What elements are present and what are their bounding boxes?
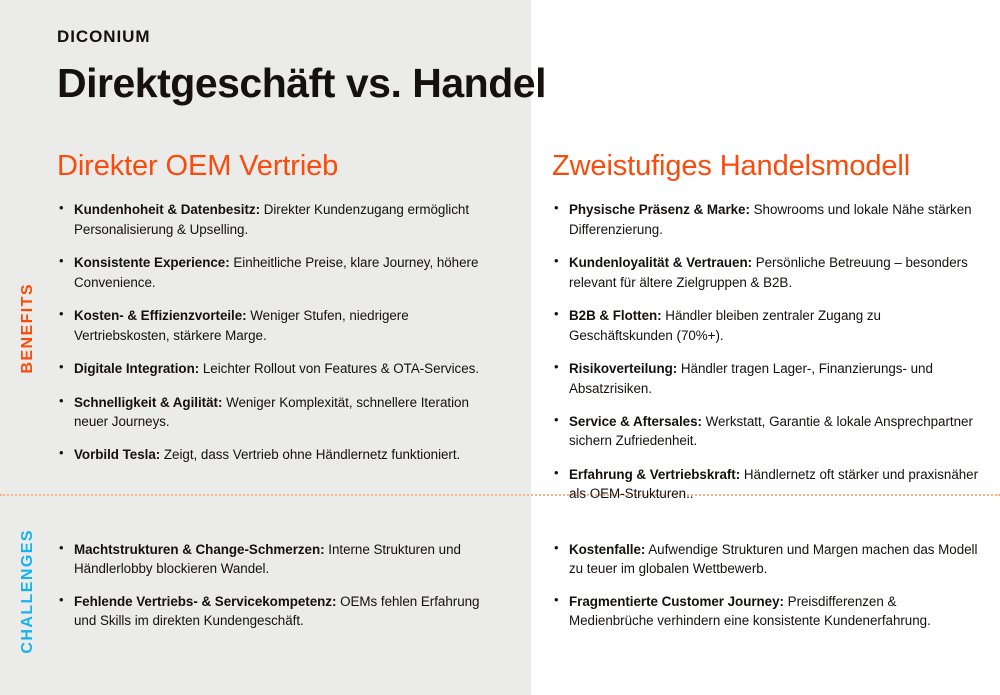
list-item-term: Service & Aftersales:	[569, 414, 702, 429]
list-item-term: Machtstrukturen & Change-Schmerzen:	[74, 542, 325, 557]
list-item-description: Leichter Rollout von Features & OTA-Serv…	[199, 361, 479, 376]
column-heading-direct-oem: Direkter OEM Vertrieb	[57, 150, 492, 182]
list-item-term: Schnelligkeit & Agilität:	[74, 395, 222, 410]
list-item: Digitale Integration: Leichter Rollout v…	[57, 359, 492, 378]
benefits-column-two-tier: Zweistufiges Handelsmodell Physische Prä…	[552, 150, 982, 504]
list-item: Risikoverteilung: Händler tragen Lager-,…	[552, 359, 982, 398]
benefits-list-direct-oem: Kundenhoheit & Datenbesitz: Direkter Kun…	[57, 200, 492, 464]
list-item: Service & Aftersales: Werkstatt, Garanti…	[552, 412, 982, 451]
list-item: Fehlende Vertriebs- & Servicekompetenz: …	[57, 592, 492, 631]
benefits-list-two-tier: Physische Präsenz & Marke: Showrooms und…	[552, 200, 982, 503]
list-item: Machtstrukturen & Change-Schmerzen: Inte…	[57, 540, 492, 579]
list-item-term: Konsistente Experience:	[74, 255, 230, 270]
challenges-column-two-tier: Kostenfalle: Aufwendige Strukturen und M…	[552, 540, 982, 644]
list-item-term: Fragmentierte Customer Journey:	[569, 594, 784, 609]
page-title: Direktgeschäft vs. Handel	[57, 62, 546, 105]
list-item-term: Kosten- & Effizienzvorteile:	[74, 308, 247, 323]
list-item-term: Vorbild Tesla:	[74, 447, 160, 462]
list-item: Physische Präsenz & Marke: Showrooms und…	[552, 200, 982, 239]
column-heading-two-tier: Zweistufiges Handelsmodell	[552, 150, 982, 182]
challenges-list-two-tier: Kostenfalle: Aufwendige Strukturen und M…	[552, 540, 982, 631]
list-item: Schnelligkeit & Agilität: Weniger Komple…	[57, 393, 492, 432]
list-item: Kostenfalle: Aufwendige Strukturen und M…	[552, 540, 982, 579]
section-label-benefits: BENEFITS	[0, 262, 56, 394]
slide-root: DICONIUM Direktgeschäft vs. Handel BENEF…	[0, 0, 1000, 695]
challenges-column-direct-oem: Machtstrukturen & Change-Schmerzen: Inte…	[57, 540, 492, 644]
list-item-term: Fehlende Vertriebs- & Servicekompetenz:	[74, 594, 336, 609]
list-item: Konsistente Experience: Einheitliche Pre…	[57, 253, 492, 292]
challenges-list-direct-oem: Machtstrukturen & Change-Schmerzen: Inte…	[57, 540, 492, 631]
list-item-term: Kundenloyalität & Vertrauen:	[569, 255, 752, 270]
list-item-term: Digitale Integration:	[74, 361, 199, 376]
benefits-column-direct-oem: Direkter OEM Vertrieb Kundenhoheit & Dat…	[57, 150, 492, 465]
list-item-description: Zeigt, dass Vertrieb ohne Händlernetz fu…	[160, 447, 460, 462]
list-item-term: Kundenhoheit & Datenbesitz:	[74, 202, 260, 217]
list-item: Fragmentierte Customer Journey: Preisdif…	[552, 592, 982, 631]
header: DICONIUM Direktgeschäft vs. Handel	[57, 28, 546, 105]
section-label-challenges-text: CHALLENGES	[20, 529, 36, 654]
brand-logo: DICONIUM	[57, 28, 546, 45]
list-item-term: Erfahrung & Vertriebskraft:	[569, 467, 740, 482]
section-label-benefits-text: BENEFITS	[20, 283, 36, 374]
list-item-term: Kostenfalle:	[569, 542, 645, 557]
list-item-term: B2B & Flotten:	[569, 308, 662, 323]
list-item: B2B & Flotten: Händler bleiben zentraler…	[552, 306, 982, 345]
list-item-term: Risikoverteilung:	[569, 361, 677, 376]
list-item: Kosten- & Effizienzvorteile: Weniger Stu…	[57, 306, 492, 345]
list-item: Kundenloyalität & Vertrauen: Persönliche…	[552, 253, 982, 292]
list-item: Vorbild Tesla: Zeigt, dass Vertrieb ohne…	[57, 445, 492, 464]
list-item: Erfahrung & Vertriebskraft: Händlernetz …	[552, 465, 982, 504]
list-item: Kundenhoheit & Datenbesitz: Direkter Kun…	[57, 200, 492, 239]
list-item-term: Physische Präsenz & Marke:	[569, 202, 750, 217]
section-label-challenges: CHALLENGES	[0, 516, 56, 666]
